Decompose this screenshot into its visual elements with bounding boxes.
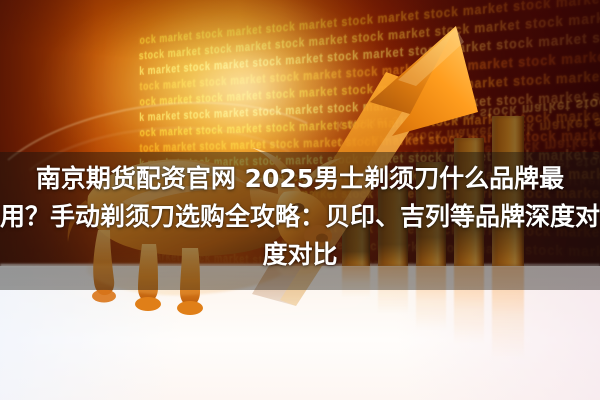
caption-line-3: 度对比 bbox=[0, 236, 600, 274]
caption-line-1: 南京期货配资官网 2025男士剃须刀什么品牌最 bbox=[0, 160, 600, 198]
image-canvas: stock market stock market stock market s… bbox=[0, 0, 600, 400]
caption-text: 南京期货配资官网 2025男士剃须刀什么品牌最 用？手动剃须刀选购全攻略：贝印、… bbox=[0, 160, 600, 274]
caption-line-2: 用？手动剃须刀选购全攻略：贝印、吉列等品牌深度对 bbox=[0, 198, 600, 236]
